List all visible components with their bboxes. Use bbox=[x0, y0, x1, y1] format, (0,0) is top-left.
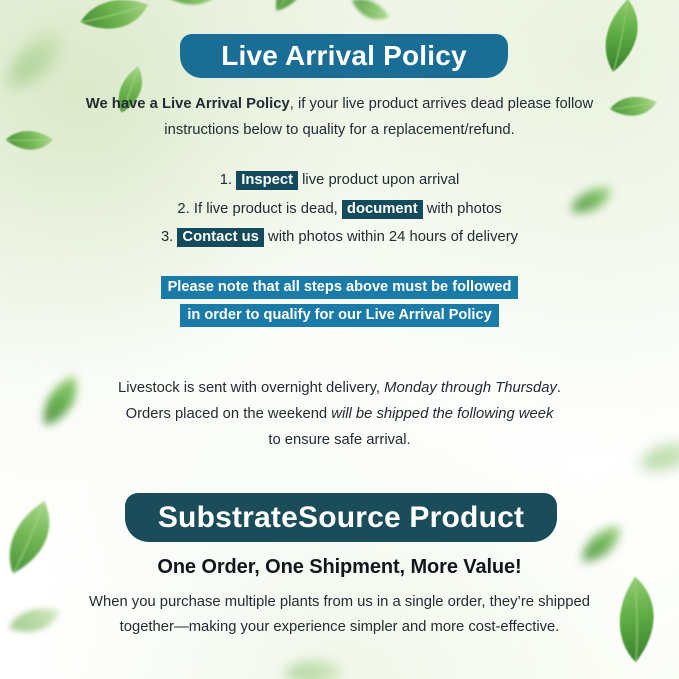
shipping-line-1-b: . bbox=[557, 380, 561, 396]
step-number-2: 2. bbox=[177, 201, 189, 217]
shipping-line-2-italic: will be shipped the following week bbox=[331, 406, 553, 422]
step-item-3: 3. Contact us with photos within 24 hour… bbox=[0, 223, 679, 252]
step-before-2: If live product is dead, bbox=[190, 201, 342, 217]
intro-paragraph: We have a Live Arrival Policy, if your l… bbox=[0, 91, 679, 143]
note-line-2: in order to qualify for our Live Arrival… bbox=[180, 304, 498, 327]
step-highlight-1: Inspect bbox=[236, 171, 298, 190]
closing-line-1: When you purchase multiple plants from u… bbox=[0, 590, 679, 615]
shipping-line-2-a: Orders placed on the weekend bbox=[126, 406, 332, 422]
shipping-line-1-a: Livestock is sent with overnight deliver… bbox=[118, 380, 384, 396]
infographic-content: Live Arrival Policy We have a Live Arriv… bbox=[0, 0, 679, 679]
step-after-2: with photos bbox=[423, 201, 502, 217]
note-line-2-wrap: in order to qualify for our Live Arrival… bbox=[0, 303, 679, 327]
step-after-1: live product upon arrival bbox=[298, 172, 459, 188]
step-highlight-3: Contact us bbox=[177, 228, 263, 247]
closing-line-2: together—making your experience simpler … bbox=[0, 615, 679, 640]
step-item-1: 1. Inspect live product upon arrival bbox=[0, 166, 679, 195]
shipping-paragraph: Livestock is sent with overnight deliver… bbox=[0, 375, 679, 453]
step-highlight-2: document bbox=[342, 200, 423, 219]
closing-paragraph: When you purchase multiple plants from u… bbox=[0, 590, 679, 640]
note-line-1: Please note that all steps above must be… bbox=[161, 276, 519, 299]
shipping-line-1-italic: Monday through Thursday bbox=[384, 380, 557, 396]
steps-list: 1. Inspect live product upon arrival 2. … bbox=[0, 166, 679, 252]
note-line-1-wrap: Please note that all steps above must be… bbox=[0, 275, 679, 299]
intro-line-1: We have a Live Arrival Policy, if your l… bbox=[0, 91, 679, 117]
step-item-2: 2. If live product is dead, document wit… bbox=[0, 195, 679, 224]
substratesource-product-banner: SubstrateSource Product bbox=[125, 493, 557, 542]
intro-lead-bold: We have a Live Arrival Policy bbox=[86, 96, 290, 112]
intro-line-2: instructions below to quality for a repl… bbox=[0, 117, 679, 143]
live-arrival-policy-banner: Live Arrival Policy bbox=[180, 34, 508, 78]
value-headline: One Order, One Shipment, More Value! bbox=[0, 556, 679, 579]
shipping-line-3: to ensure safe arrival. bbox=[0, 427, 679, 453]
step-after-3: with photos within 24 hours of delivery bbox=[264, 229, 518, 245]
policy-note: Please note that all steps above must be… bbox=[0, 275, 679, 331]
step-number-3: 3. bbox=[161, 229, 173, 245]
shipping-line-2: Orders placed on the weekend will be shi… bbox=[0, 401, 679, 427]
intro-rest: , if your live product arrives dead plea… bbox=[290, 96, 594, 112]
shipping-line-1: Livestock is sent with overnight deliver… bbox=[0, 375, 679, 401]
step-number-1: 1. bbox=[220, 172, 232, 188]
